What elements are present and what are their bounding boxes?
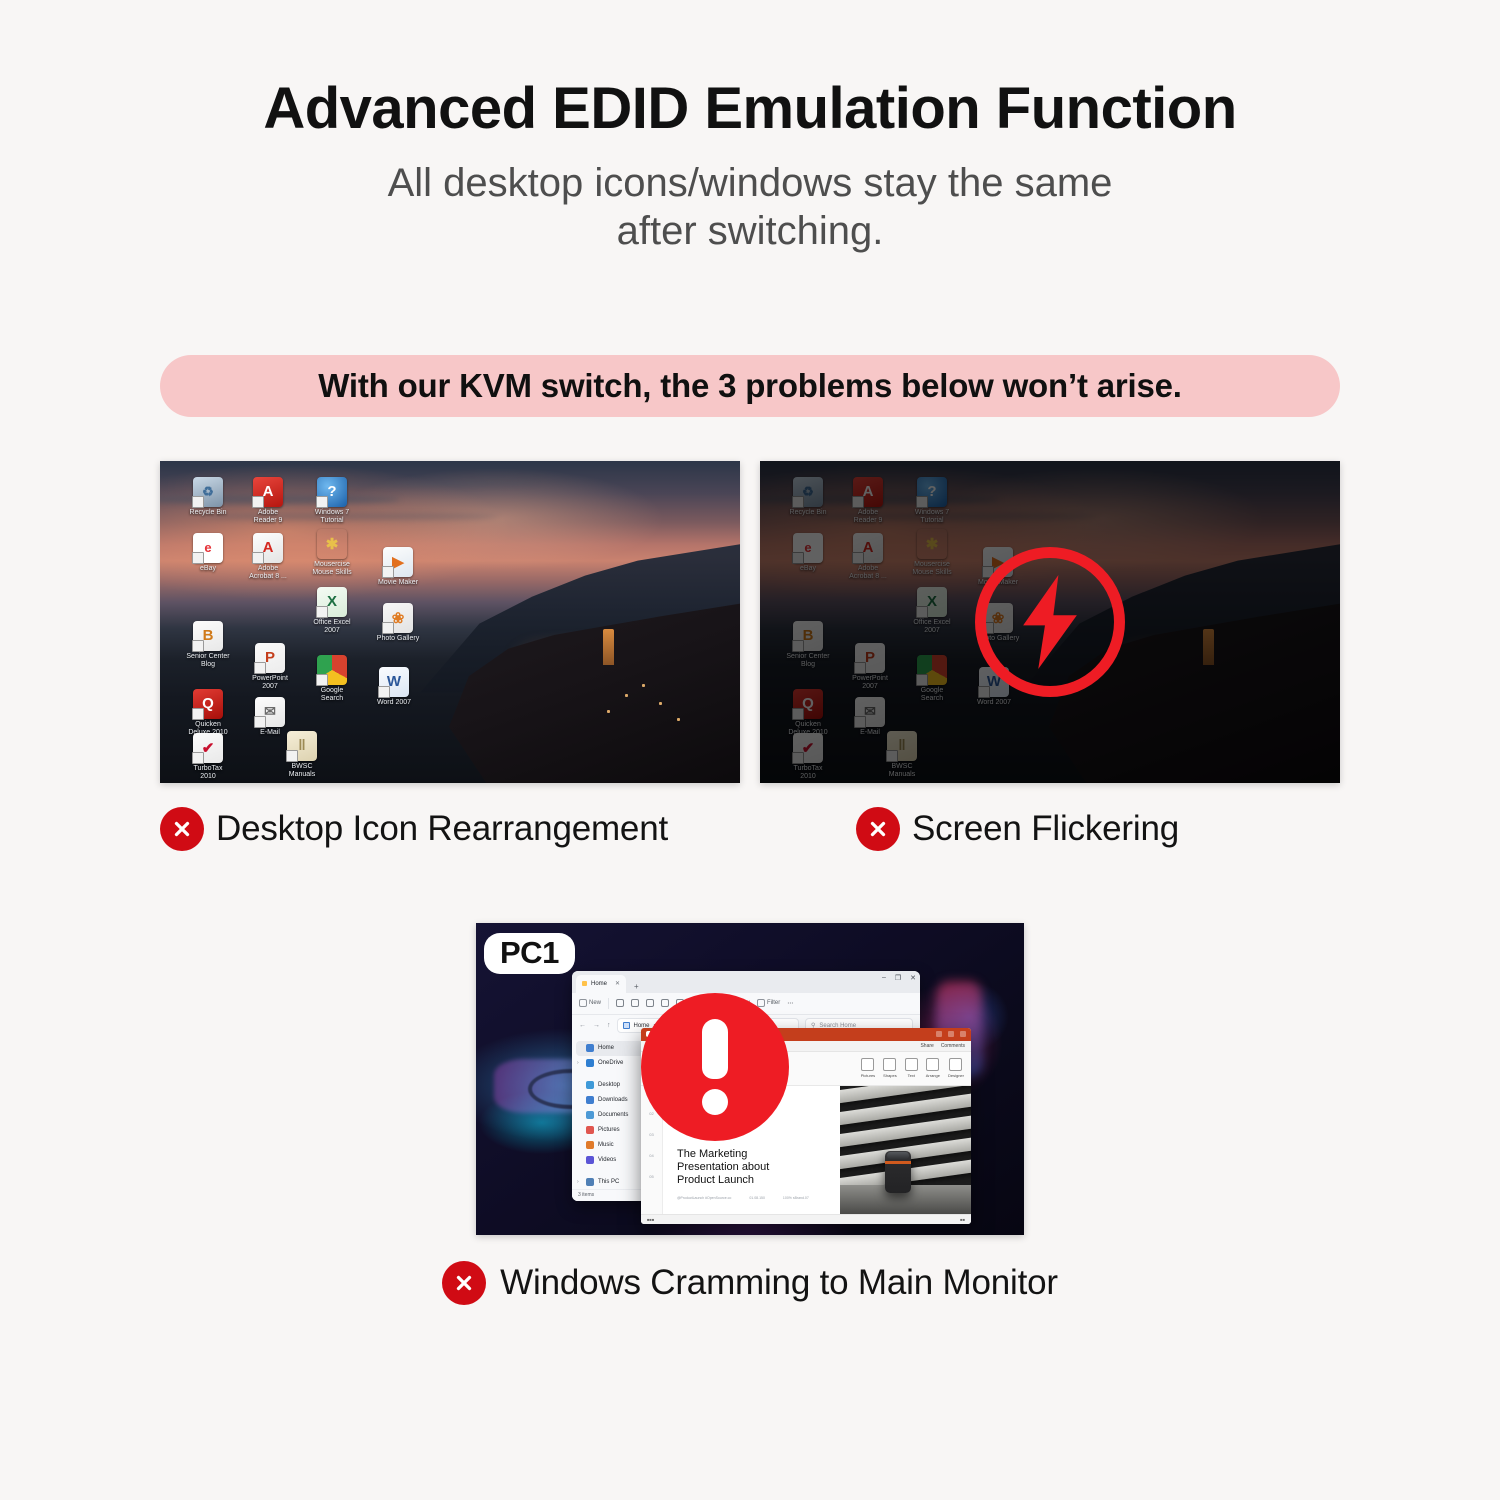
- ribbon-pictures-button[interactable]: Pictures: [861, 1058, 875, 1078]
- exclamation-circle-icon: [641, 993, 789, 1141]
- desktop-icon[interactable]: AAdobeReader 9: [238, 477, 298, 526]
- x-circle-icon: [160, 807, 204, 851]
- arrange-icon: [926, 1058, 939, 1071]
- desktop-icon-label: Reader 9: [238, 517, 298, 526]
- chevron-right-icon[interactable]: ›: [577, 1179, 582, 1185]
- movie-maker-icon: ▶: [383, 547, 413, 577]
- desktop-icon[interactable]: PPowerPoint2007: [240, 643, 300, 692]
- adobe-reader-icon: A: [253, 477, 283, 507]
- shapes-icon: [883, 1058, 896, 1071]
- problem-label-2: Screen Flickering: [912, 809, 1179, 849]
- tab-label: Home: [591, 981, 607, 987]
- sidebar-item-label: Pictures: [598, 1127, 620, 1133]
- powerpoint-window-controls[interactable]: [936, 1031, 966, 1037]
- turbotax-icon: ✔: [193, 733, 223, 763]
- status-right: ■■: [960, 1217, 965, 1222]
- subtitle-line-2: after switching.: [0, 207, 1500, 255]
- home-icon: [623, 1022, 630, 1029]
- desktop-icon-label: 2007: [302, 627, 362, 636]
- sidebar-item-label: Documents: [598, 1112, 628, 1118]
- desktop-icon-label: 2007: [240, 683, 300, 692]
- desktop-icon-label: Word 2007: [364, 699, 424, 708]
- filter-label: Filter: [767, 1000, 780, 1006]
- desktop-icon[interactable]: WWord 2007: [364, 667, 424, 708]
- banner-text: With our KVM switch, the 3 problems belo…: [318, 367, 1182, 405]
- ribbon-button-label: Text: [908, 1073, 915, 1078]
- adobe-acrobat-icon: A: [253, 533, 283, 563]
- slide-footer-right: 100% sBrand.07: [783, 1196, 809, 1200]
- manuals-icon: ‖: [287, 731, 317, 761]
- problem-label-3: Windows Cramming to Main Monitor: [500, 1263, 1058, 1303]
- close-icon[interactable]: [960, 1031, 966, 1037]
- exclamation-bar: [702, 1019, 728, 1079]
- maximize-icon[interactable]: ❐: [895, 974, 901, 982]
- caption-screen-flickering: Screen Flickering: [760, 807, 1340, 851]
- chrome-icon: [317, 655, 347, 685]
- sidebar-item-label: This PC: [598, 1179, 619, 1185]
- slide-footer-mid: 01.08.150: [749, 1196, 765, 1200]
- slide-product-photo: [840, 1086, 971, 1214]
- onedrive-icon: [586, 1059, 594, 1067]
- minimize-icon[interactable]: [948, 1031, 954, 1037]
- window-controls[interactable]: – ❐ ✕: [882, 974, 916, 982]
- lightning-bolt-icon: [975, 547, 1125, 697]
- desktop-icon-label: Search: [302, 695, 362, 704]
- ribbon-designer-button[interactable]: Designer: [948, 1058, 964, 1078]
- problem-panels: ♻Recycle BinAAdobeReader 9?Windows 7Tuto…: [0, 461, 1500, 851]
- downloads-icon: [586, 1096, 594, 1104]
- ribbon-shapes-button[interactable]: Shapes: [883, 1058, 897, 1078]
- quicken-icon: Q: [193, 689, 223, 719]
- desktop-icon-label: Tutorial: [302, 517, 362, 526]
- slide-footer: @ProductLaunch #OpenSource.co 01.08.150 …: [677, 1196, 840, 1200]
- panel-windows-cramming: PC1 Home ✕ + – ❐ ✕: [0, 923, 1500, 1305]
- paste-icon[interactable]: [646, 999, 654, 1007]
- desktop-icon: [586, 1081, 594, 1089]
- desktop-icon[interactable]: XOffice Excel2007: [302, 587, 362, 636]
- desktop-icon-label: Office Excel: [302, 619, 362, 628]
- desktop-icon-label: Photo Gallery: [368, 635, 428, 644]
- panel-desktop-rearrangement: ♻Recycle BinAAdobeReader 9?Windows 7Tuto…: [160, 461, 740, 851]
- desktop-icon-label: Recycle Bin: [178, 509, 238, 518]
- sidebar-item-label: Desktop: [598, 1082, 620, 1088]
- page-title: Advanced EDID Emulation Function: [0, 78, 1500, 141]
- excel-icon: X: [317, 587, 347, 617]
- music-icon: [586, 1141, 594, 1149]
- wallpaper-tower: [603, 629, 614, 665]
- slide-title-line-3: Product Launch: [677, 1174, 840, 1187]
- desktop-icon-label: TurboTax: [178, 765, 238, 774]
- slide-footer-left: @ProductLaunch #OpenSource.co: [677, 1196, 731, 1200]
- recycle-bin-icon: ♻: [193, 477, 223, 507]
- copy-icon[interactable]: [631, 999, 639, 1007]
- minimize-icon[interactable]: –: [882, 974, 886, 982]
- mouse-skills-icon: ✱: [317, 529, 347, 559]
- back-icon[interactable]: ←: [579, 1022, 586, 1029]
- banner-wrapper: With our KVM switch, the 3 problems belo…: [0, 355, 1500, 417]
- ribbon-button-label: Pictures: [861, 1073, 875, 1078]
- desktop-icon[interactable]: ‖BWSCManuals: [272, 731, 332, 780]
- ribbon-button-label: Arrange: [926, 1073, 940, 1078]
- page-header: Advanced EDID Emulation Function All des…: [0, 0, 1500, 255]
- desktop-icon-label: Quicken: [178, 721, 238, 730]
- x-circle-icon: [442, 1261, 486, 1305]
- product-speaker: [885, 1151, 911, 1193]
- desktop-icon-label: Movie Maker: [368, 579, 428, 588]
- desktop-icon-label: Mouse Skills: [302, 569, 362, 578]
- file-explorer-tabbar: Home ✕ + – ❐ ✕: [572, 971, 920, 993]
- blog-icon: B: [193, 621, 223, 651]
- desktop-icon[interactable]: ✱MouserciseMouse Skills: [302, 529, 362, 578]
- desktop-icon-label: Google: [302, 687, 362, 696]
- search-icon[interactable]: [936, 1031, 942, 1037]
- windows-cramming-screenshot: PC1 Home ✕ + – ❐ ✕: [476, 923, 1024, 1235]
- forward-icon[interactable]: →: [593, 1022, 600, 1029]
- desktop-icon-label: 2010: [178, 773, 238, 782]
- desktop-icon-label: Adobe: [238, 509, 298, 518]
- status-item-count: 3 items: [578, 1192, 594, 1198]
- ribbon-button-label: Shapes: [883, 1073, 897, 1078]
- sidebar-item-label: Home: [598, 1045, 614, 1051]
- new-label: New: [589, 1000, 601, 1006]
- close-icon[interactable]: ✕: [910, 974, 916, 982]
- sidebar-item-label: Downloads: [598, 1097, 628, 1103]
- photo-gallery-icon: ❀: [383, 603, 413, 633]
- help-icon: ?: [317, 477, 347, 507]
- home-icon: [586, 1044, 594, 1052]
- powerpoint-icon: P: [255, 643, 285, 673]
- caption-windows-cramming: Windows Cramming to Main Monitor: [442, 1261, 1058, 1305]
- desktop-icon-label: Senior Center: [178, 653, 238, 662]
- folder-icon: [582, 981, 587, 986]
- desktop-icon[interactable]: ♻Recycle Bin: [178, 477, 238, 518]
- close-icon[interactable]: ✕: [615, 980, 620, 987]
- desktop-icon[interactable]: GoogleSearch: [302, 655, 362, 704]
- desktop-icon-label: Blog: [178, 661, 238, 670]
- comments-button[interactable]: Comments: [941, 1043, 965, 1049]
- filter-button[interactable]: Filter: [757, 999, 780, 1007]
- promo-page: Advanced EDID Emulation Function All des…: [0, 0, 1500, 1500]
- ebay-icon: e: [193, 533, 223, 563]
- desktop-icon-label: BWSC: [272, 763, 332, 772]
- desktop-screenshot-normal: ♻Recycle BinAAdobeReader 9?Windows 7Tuto…: [160, 461, 740, 783]
- desktop-icon[interactable]: ✔TurboTax2010: [178, 733, 238, 782]
- desktop-icon-label: Manuals: [272, 771, 332, 780]
- sidebar-item-label: Videos: [598, 1157, 616, 1163]
- new-button[interactable]: New: [579, 999, 601, 1007]
- desktop-icon-label: eBay: [178, 565, 238, 574]
- pictures-icon: [586, 1126, 594, 1134]
- text-icon: [905, 1058, 918, 1071]
- sidebar-item-label: OneDrive: [598, 1060, 623, 1066]
- cut-icon[interactable]: [616, 999, 624, 1007]
- desktop-icon[interactable]: AAdobeAcrobat 8 ...: [238, 533, 298, 582]
- documents-icon: [586, 1111, 594, 1119]
- slide-title-line-1: The Marketing: [677, 1148, 840, 1161]
- page-subtitle: All desktop icons/windows stay the same …: [0, 159, 1500, 255]
- pc1-badge: PC1: [484, 933, 575, 974]
- desktop-icon[interactable]: eeBay: [178, 533, 238, 574]
- email-icon: ✉: [255, 697, 285, 727]
- desktop-icon[interactable]: BSenior CenterBlog: [178, 621, 238, 670]
- new-tab-button[interactable]: +: [629, 982, 644, 993]
- desktop-icon[interactable]: ❀Photo Gallery: [368, 603, 428, 644]
- pictures-icon: [861, 1058, 874, 1071]
- exclamation-dot: [702, 1089, 728, 1115]
- status-left: ■■■: [647, 1217, 654, 1222]
- slide-thumbnail[interactable]: 04: [641, 1153, 662, 1158]
- this-pc-icon: [586, 1178, 594, 1186]
- desktop-screenshot-flickering: ♻Recycle BinAAdobeReader 9?Windows 7Tuto…: [760, 461, 1340, 783]
- desktop-icon[interactable]: QQuickenDeluxe 2010: [178, 689, 238, 738]
- slide-thumbnail[interactable]: 03: [641, 1132, 662, 1137]
- slide-thumbnail[interactable]: 05: [641, 1174, 662, 1179]
- panel-screen-flickering: ♻Recycle BinAAdobeReader 9?Windows 7Tuto…: [760, 461, 1340, 851]
- desktop-icon-label: Windows 7: [302, 509, 362, 518]
- desktop-icon-label: Acrobat 8 ...: [238, 573, 298, 582]
- caption-desktop-rearrangement: Desktop Icon Rearrangement: [160, 807, 740, 851]
- more-options-icon[interactable]: ⋯: [787, 1000, 793, 1007]
- desktop-icon-label: Mousercise: [302, 561, 362, 570]
- kvm-claim-banner: With our KVM switch, the 3 problems belo…: [160, 355, 1340, 417]
- slide-title-line-2: Presentation about: [677, 1161, 840, 1174]
- sidebar-item-label: Music: [598, 1142, 614, 1148]
- powerpoint-status-bar: ■■■ ■■: [641, 1214, 971, 1224]
- ribbon-text-button[interactable]: Text: [905, 1058, 918, 1078]
- desktop-icon-label: Adobe: [238, 565, 298, 574]
- up-icon[interactable]: ↑: [607, 1022, 611, 1029]
- subtitle-line-1: All desktop icons/windows stay the same: [388, 161, 1113, 205]
- share-button[interactable]: Share: [920, 1043, 933, 1049]
- problem-label-1: Desktop Icon Rearrangement: [216, 809, 668, 849]
- file-explorer-tab-home[interactable]: Home ✕: [576, 975, 626, 993]
- designer-icon: [949, 1058, 962, 1071]
- plus-icon: [579, 999, 587, 1007]
- chevron-right-icon[interactable]: ›: [577, 1060, 582, 1066]
- ribbon-button-label: Designer: [948, 1073, 964, 1078]
- videos-icon: [586, 1156, 594, 1164]
- x-circle-icon: [856, 807, 900, 851]
- desktop-icon[interactable]: ?Windows 7Tutorial: [302, 477, 362, 526]
- word-icon: W: [379, 667, 409, 697]
- divider: [608, 998, 609, 1009]
- ribbon-arrange-button[interactable]: Arrange: [926, 1058, 940, 1078]
- desktop-icon[interactable]: ▶Movie Maker: [368, 547, 428, 588]
- nav-arrows[interactable]: ← → ↑: [579, 1022, 611, 1029]
- desktop-icon-label: PowerPoint: [240, 675, 300, 684]
- rename-icon[interactable]: [661, 999, 669, 1007]
